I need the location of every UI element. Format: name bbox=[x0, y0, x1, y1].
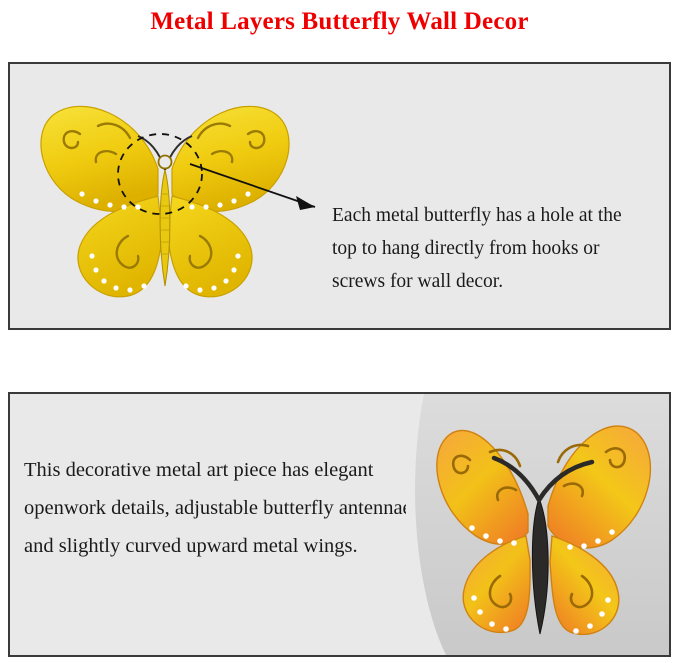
panel-top-caption: Each metal butterfly has a hole at the t… bbox=[332, 199, 642, 298]
panel-bottom-caption: This decorative metal art piece has eleg… bbox=[24, 451, 424, 565]
product-infographic-page: Metal Layers Butterfly Wall Decor bbox=[0, 0, 679, 663]
panel-top: Each metal butterfly has a hole at the t… bbox=[8, 62, 671, 330]
butterfly-yellow-image bbox=[20, 74, 310, 319]
page-title: Metal Layers Butterfly Wall Decor bbox=[0, 8, 679, 36]
panel-bottom: This decorative metal art piece has eleg… bbox=[8, 392, 671, 657]
butterfly-orange-image bbox=[406, 394, 669, 655]
